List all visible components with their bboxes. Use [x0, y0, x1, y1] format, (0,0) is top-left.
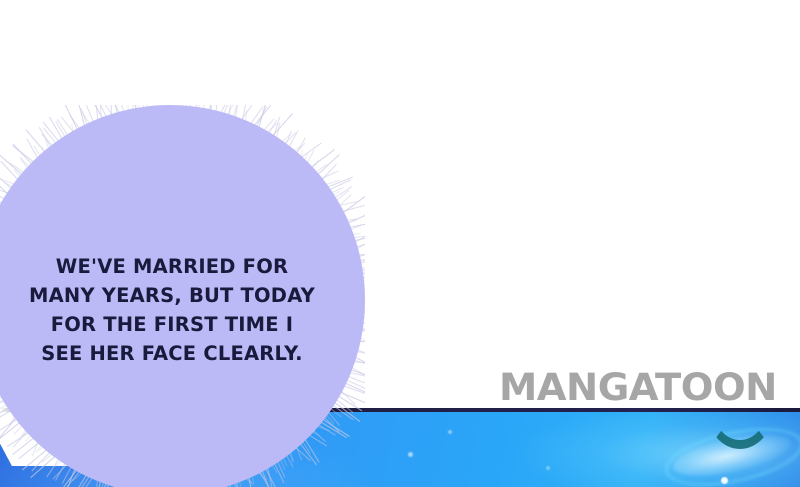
water-bubble — [408, 452, 413, 457]
dialogue-line-3: FOR THE FIRST TIME I — [12, 310, 332, 339]
dialogue-line-2: MANY YEARS, BUT TODAY — [12, 281, 332, 310]
water-bubble — [546, 466, 550, 470]
comic-panel-page: WE'VE MARRIED FOR MANY YEARS, BUT TODAY … — [0, 0, 800, 487]
dialogue-text: WE'VE MARRIED FOR MANY YEARS, BUT TODAY … — [12, 252, 332, 368]
mangatoon-watermark: MANGATOON — [499, 367, 777, 409]
white-speck — [721, 477, 728, 484]
dialogue-line-1: WE'VE MARRIED FOR — [12, 252, 332, 281]
dialogue-line-4: SEE HER FACE CLEARLY. — [12, 339, 332, 368]
water-bubble — [448, 430, 452, 434]
